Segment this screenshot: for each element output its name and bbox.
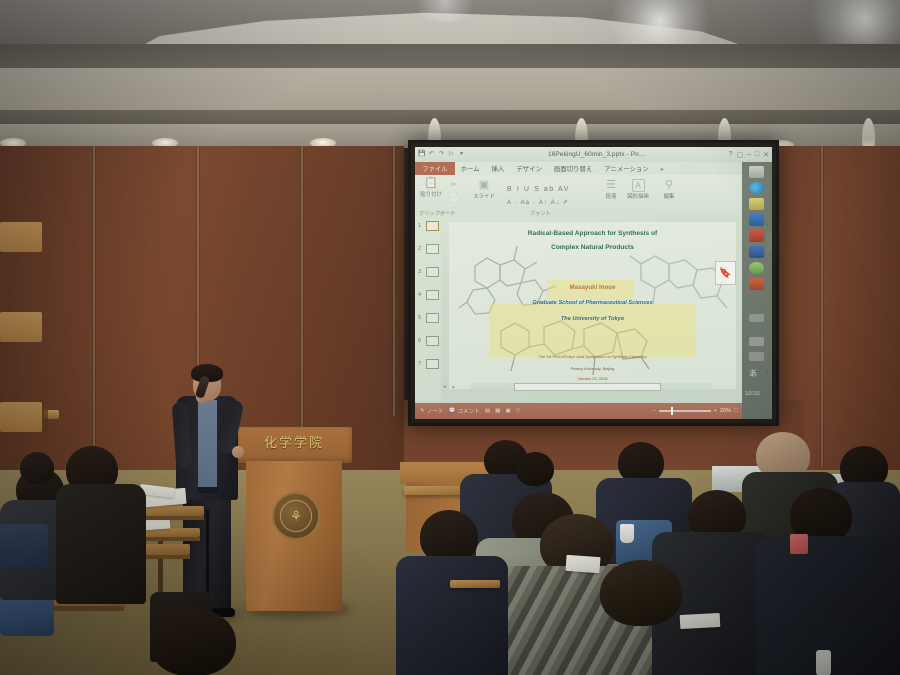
window-filename: 16PekingU_60min_3.pptx - Po… [465, 151, 728, 158]
slide-highlight-block [489, 304, 696, 357]
seal-emblem-icon: ⚘ [280, 500, 312, 532]
tray-chevron-icon[interactable] [749, 314, 764, 322]
media-icon[interactable] [749, 230, 764, 242]
font-caption: フォント [530, 210, 551, 217]
slide-label: スライド [470, 192, 498, 200]
paste-label: 貼り付け [418, 190, 444, 198]
thumb-number: 5 [418, 315, 421, 321]
tab-transitions[interactable]: 画面切り替え [548, 164, 598, 173]
shapes-group[interactable]: A 図形描画 [625, 179, 651, 200]
fit-to-window-icon[interactable]: ⛶ [734, 408, 738, 415]
slideshow-button[interactable]: ▽ [516, 408, 520, 414]
tab-home[interactable]: ホーム [455, 164, 486, 173]
redo-icon[interactable]: ↷ [438, 151, 445, 158]
speaker-hand-right [232, 446, 244, 458]
zoom-control[interactable]: − + 26% ⛶ [652, 408, 738, 415]
slide-thumbnail-4[interactable] [426, 290, 439, 300]
cut-icon[interactable]: ✂ [448, 178, 460, 191]
person-torso [396, 556, 508, 675]
tab-animations[interactable]: アニメーション [598, 164, 654, 173]
slide-footer-line2: Peking University, Beijing [449, 366, 736, 371]
wall-panel-seam [820, 146, 824, 466]
tab-insert[interactable]: 挿入 [486, 164, 511, 173]
wall-accent-plate [0, 312, 42, 342]
slide-thumbnail-3[interactable] [426, 267, 439, 277]
editing-label: 編集 [658, 192, 680, 200]
thumb-number: 1 [418, 223, 421, 229]
slide-affiliation-1: Graduate School of Pharmaceutical Scienc… [449, 300, 736, 306]
undo-icon[interactable]: ↶ [428, 151, 435, 158]
paste-group[interactable]: 📋 貼り付け [418, 177, 444, 198]
notes-label: ノート [427, 407, 444, 415]
person-head [150, 608, 236, 675]
thumb-number: 7 [418, 361, 421, 367]
slide-title-line1: Radical-Based Approach for Synthesis of [449, 230, 736, 237]
slide-thumbnail-7[interactable] [426, 359, 439, 369]
university-seal: ⚘ [272, 492, 320, 540]
close-button[interactable]: ✕ [763, 151, 769, 159]
pink-collar-accent [790, 534, 808, 554]
slide-presenter-name: Masayuki Inoue [449, 284, 736, 291]
person-head [600, 560, 682, 626]
wall-accent-plate [0, 402, 42, 432]
slide-title-line2: Complex Natural Products [449, 244, 736, 251]
normal-view-button[interactable]: ▤ [485, 408, 490, 414]
slide-sorter-button[interactable]: ▦ [495, 408, 500, 414]
ribbon-body[interactable]: 📋 貼り付け ✂ 📄 ▣ スライド B I U S ab AV A · Aa ·… [415, 175, 772, 215]
windows-taskbar[interactable]: あ 10:02 [742, 162, 772, 419]
podium-venue-label: 化学学院 [240, 432, 348, 451]
chair-back-far-left [0, 524, 48, 568]
zoom-in-button[interactable]: + [714, 408, 717, 414]
ribbon-options-icon[interactable]: ▢ [736, 151, 743, 159]
folder-icon[interactable] [749, 198, 764, 210]
shapes-icon[interactable]: A [632, 179, 645, 192]
font-extra-buttons[interactable]: A · Aa · A↑ A↓ ✐ [507, 199, 569, 206]
notes-icon: ✎ [420, 408, 425, 414]
clipboard-caption: クリップボード [419, 210, 455, 217]
thumb-number: 6 [418, 338, 421, 344]
explorer-icon[interactable] [749, 166, 764, 178]
slide-affiliation-2: The University of Tokyo [449, 316, 736, 322]
powerpoint-status-bar[interactable]: ✎ ノート 💬 コメント ▤ ▦ ▣ ▽ − + 26% [415, 403, 742, 419]
slide-thumbnail-6[interactable] [426, 336, 439, 346]
cut-copy-stack[interactable]: ✂ 📄 [448, 178, 460, 204]
quick-access-toolbar[interactable]: 💾 ↶ ↷ ▷ ▾ [418, 151, 465, 158]
edit-find-icon[interactable]: ⚲ [658, 179, 680, 192]
paper-sheet [565, 555, 600, 573]
powerpoint-icon[interactable] [749, 278, 764, 290]
slide-footer-line3: October 22, 2016 [449, 376, 736, 381]
horizontal-scrollbar[interactable] [471, 383, 712, 389]
ribbon-tab-bar[interactable]: ファイル ホーム 挿入 デザイン 画面切り替え アニメーション ▸ [415, 162, 772, 175]
water-bottle [816, 650, 831, 675]
minimize-button[interactable]: – [747, 151, 751, 159]
projected-image: 💾 ↶ ↷ ▷ ▾ 16PekingU_60min_3.pptx - Po… ?… [415, 147, 772, 419]
copy-icon[interactable]: 📄 [448, 191, 460, 204]
ime-icon[interactable]: あ [749, 368, 757, 379]
wall-accent-plate [0, 222, 42, 252]
powerpoint-window: 💾 ↶ ↷ ▷ ▾ 16PekingU_60min_3.pptx - Po… ?… [415, 147, 772, 419]
paragraph-icon[interactable]: ☰ [600, 179, 622, 192]
desk-right-front [450, 580, 500, 588]
comments-label: コメント [457, 407, 479, 415]
wall-panel-seam [392, 146, 396, 416]
ceiling-soffit [0, 68, 900, 112]
zoom-level-label: 26% [720, 408, 731, 414]
door-handle-shaft [44, 410, 48, 434]
word-icon[interactable] [749, 214, 764, 226]
powerpoint-title-bar: 💾 ↶ ↷ ▷ ▾ 16PekingU_60min_3.pptx - Po… ?… [415, 147, 772, 162]
bookmark-icon[interactable]: 🔖 [715, 261, 736, 285]
comment-icon: 💬 [448, 408, 455, 414]
ceiling-cove [0, 44, 900, 70]
paper-cup [620, 524, 634, 543]
comments-button[interactable]: 💬 コメント [448, 407, 479, 415]
start-slideshow-icon[interactable]: ▷ [448, 151, 455, 158]
window-controls[interactable]: ? ▢ – □ ✕ [728, 151, 769, 159]
customize-icon[interactable]: ▾ [458, 151, 465, 158]
tab-design[interactable]: デザイン [510, 164, 548, 173]
editing-group[interactable]: ⚲ 編集 [658, 179, 680, 200]
volume-icon[interactable] [749, 352, 764, 361]
person-torso [56, 484, 146, 604]
slide-thumbnail-2[interactable] [426, 244, 439, 254]
slide-editing-area[interactable]: Radical-Based Approach for Synthesis of … [443, 219, 742, 401]
slide-thumbnail-panel[interactable]: 1 2 3 4 5 6 7 [415, 219, 441, 401]
thumb-number: 3 [418, 269, 421, 275]
paragraph-group[interactable]: ☰ 段落 [600, 179, 622, 200]
slide-footer-line1: The 1st PKU-UTokyo Joint Symposium on Sy… [449, 354, 736, 359]
wall-panel-seam [92, 146, 96, 476]
speaker-belt [198, 487, 218, 493]
paragraph-label: 段落 [600, 192, 622, 200]
reading-view-button[interactable]: ▣ [505, 408, 510, 414]
projection-screen: 💾 ↶ ↷ ▷ ▾ 16PekingU_60min_3.pptx - Po… ?… [408, 140, 779, 426]
scroll-prev-slide-icon[interactable]: ▴ [452, 384, 455, 390]
network-icon[interactable] [749, 337, 764, 346]
font-style-buttons[interactable]: B I U S ab AV [507, 186, 570, 193]
person-head [516, 452, 554, 486]
slide-group[interactable]: ▣ スライド [470, 179, 498, 200]
slide-thumbnail-1[interactable] [426, 221, 439, 231]
slide-thumbnail-5[interactable] [426, 313, 439, 323]
clipboard-icon[interactable]: 📋 [418, 177, 444, 190]
edge-icon[interactable] [749, 182, 764, 194]
zoom-slider[interactable] [659, 410, 711, 412]
lecture-hall-photo: 💾 ↶ ↷ ▷ ▾ 16PekingU_60min_3.pptx - Po… ?… [0, 0, 900, 675]
tab-overflow-icon[interactable]: ▸ [655, 165, 670, 173]
zoom-out-button[interactable]: − [652, 408, 655, 414]
person-head [20, 452, 54, 484]
outlook-icon[interactable] [749, 246, 764, 258]
tab-file[interactable]: ファイル [415, 162, 455, 175]
scroll-left-arrow-icon[interactable]: ◂ [443, 384, 446, 390]
maximize-button[interactable]: □ [755, 151, 759, 159]
save-icon[interactable]: 💾 [418, 151, 425, 158]
horizontal-scrollbar-thumb[interactable] [514, 383, 661, 391]
help-icon[interactable]: ? [728, 151, 732, 159]
ribbon-group-captions: クリップボード フォント ^ [415, 210, 772, 219]
thumb-number: 2 [418, 246, 421, 252]
notes-button[interactable]: ✎ ノート [420, 407, 443, 415]
chat-icon[interactable] [749, 262, 764, 274]
shapes-label: 図形描画 [625, 192, 651, 200]
zoom-slider-handle[interactable] [671, 407, 673, 415]
taskbar-clock[interactable]: 10:02 [745, 391, 760, 397]
wall-panel-seam [300, 146, 304, 436]
paper-sheet [680, 613, 721, 629]
thumb-number: 4 [418, 292, 421, 298]
new-slide-icon[interactable]: ▣ [470, 179, 498, 192]
current-slide[interactable]: Radical-Based Approach for Synthesis of … [449, 222, 736, 389]
speaker-shirt [198, 400, 217, 492]
